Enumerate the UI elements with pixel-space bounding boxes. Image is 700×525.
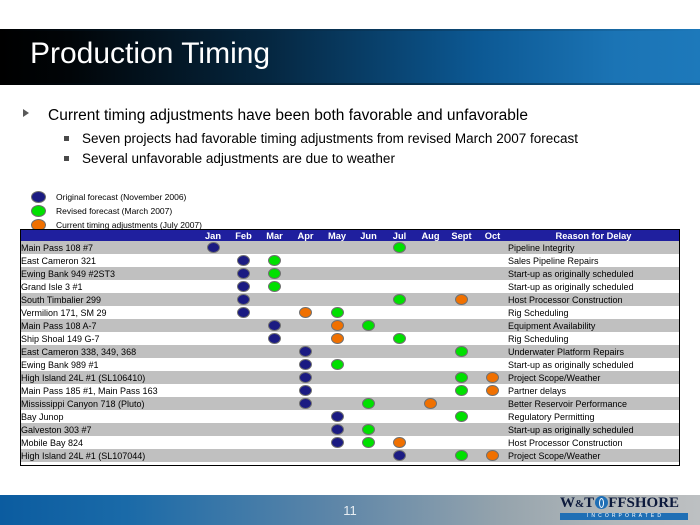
cell-jan <box>198 397 228 410</box>
cell-jan <box>198 423 228 436</box>
logo-w: W <box>560 495 575 511</box>
cell-project-name: East Cameron 338, 349, 368 <box>21 345 198 358</box>
bullet-list: Current timing adjustments have been bot… <box>20 105 680 169</box>
marker-current-icon <box>424 398 437 409</box>
cell-apr <box>290 319 321 332</box>
cell-apr <box>290 449 321 462</box>
cell-feb <box>228 423 259 436</box>
cell-mar <box>259 293 290 306</box>
cell-aug <box>415 267 446 280</box>
column-header-month-8: Sept <box>446 230 477 241</box>
logo-offshore: FFSHORE <box>608 495 679 511</box>
marker-current-icon <box>331 320 344 331</box>
cell-may <box>321 358 353 371</box>
cell-mar <box>259 267 290 280</box>
cell-oct <box>477 280 508 293</box>
marker-revised-icon <box>362 437 375 448</box>
cell-mar <box>259 280 290 293</box>
column-header-month-7: Aug <box>415 230 446 241</box>
table-row: High Island 24L #1 (SL106410)Project Sco… <box>21 371 679 384</box>
marker-original-icon <box>331 437 344 448</box>
cell-oct <box>477 319 508 332</box>
cell-project-name: Mobile Bay 824 <box>21 436 198 449</box>
marker-original-icon <box>299 385 312 396</box>
cell-jun <box>353 241 384 254</box>
cell-feb <box>228 306 259 319</box>
cell-aug <box>415 423 446 436</box>
cell-project-name: Grand Isle 3 #1 <box>21 280 198 293</box>
cell-project-name: South Timbalier 299 <box>21 293 198 306</box>
cell-reason: Start-up as originally scheduled <box>508 423 679 436</box>
cell-apr <box>290 241 321 254</box>
cell-mar <box>259 410 290 423</box>
table-row: Main Pass 108 #7Pipeline Integrity <box>21 241 679 254</box>
cell-apr <box>290 345 321 358</box>
table-row: Mobile Bay 824Host Processor Constructio… <box>21 436 679 449</box>
cell-jul <box>384 319 415 332</box>
cell-jan <box>198 345 228 358</box>
marker-revised-icon <box>362 320 375 331</box>
marker-revised-icon <box>331 359 344 370</box>
column-header-month-2: Mar <box>259 230 290 241</box>
table-row: Mississippi Canyon 718 (Pluto)Better Res… <box>21 397 679 410</box>
table-row: East Cameron 321Sales Pipeline Repairs <box>21 254 679 267</box>
slide-canvas: Production Timing Current timing adjustm… <box>0 0 700 525</box>
marker-revised-icon <box>455 346 468 357</box>
cell-may <box>321 267 353 280</box>
cell-jun <box>353 358 384 371</box>
marker-revised-icon <box>362 398 375 409</box>
table-body: Main Pass 108 #7Pipeline IntegrityEast C… <box>21 241 679 462</box>
marker-revised-icon <box>393 333 406 344</box>
legend-label: Revised forecast (March 2007) <box>56 206 172 216</box>
cell-jun <box>353 436 384 449</box>
cell-may <box>321 332 353 345</box>
cell-sept <box>446 241 477 254</box>
cell-project-name: Ship Shoal 149 G-7 <box>21 332 198 345</box>
cell-reason: Pipeline Integrity <box>508 241 679 254</box>
logo-t: T <box>584 495 594 511</box>
table-row: Ewing Bank 989 #1Start-up as originally … <box>21 358 679 371</box>
legend: Original forecast (November 2006)Revised… <box>26 190 202 232</box>
cell-jan <box>198 293 228 306</box>
marker-original-icon <box>237 307 250 318</box>
cell-aug <box>415 280 446 293</box>
cell-project-name: Vermilion 171, SM 29 <box>21 306 198 319</box>
cell-reason: Rig Scheduling <box>508 332 679 345</box>
cell-feb <box>228 410 259 423</box>
cell-reason: Better Reservoir Performance <box>508 397 679 410</box>
column-header-month-0: Jan <box>198 230 228 241</box>
title-bar: Production Timing <box>0 29 700 85</box>
page-title: Production Timing <box>30 37 270 71</box>
bullet-item-2: Several unfavorable adjustments are due … <box>20 149 680 169</box>
marker-current-icon <box>299 307 312 318</box>
cell-feb <box>228 449 259 462</box>
cell-sept <box>446 345 477 358</box>
cell-oct <box>477 384 508 397</box>
production-timing-table: Jan Feb Mar Apr May Jun Jul Aug Sept Oct… <box>21 230 679 462</box>
cell-oct <box>477 332 508 345</box>
cell-jul <box>384 332 415 345</box>
cell-sept <box>446 306 477 319</box>
cell-feb <box>228 345 259 358</box>
cell-project-name: Main Pass 108 A-7 <box>21 319 198 332</box>
cell-jun <box>353 410 384 423</box>
marker-current-icon <box>331 333 344 344</box>
cell-may <box>321 371 353 384</box>
cell-jul <box>384 384 415 397</box>
column-header-reason: Reason for Delay <box>508 230 679 241</box>
cell-aug <box>415 371 446 384</box>
column-header-month-6: Jul <box>384 230 415 241</box>
marker-original-icon <box>237 294 250 305</box>
cell-oct <box>477 436 508 449</box>
column-header-month-5: Jun <box>353 230 384 241</box>
cell-may <box>321 397 353 410</box>
cell-feb <box>228 267 259 280</box>
marker-revised-icon <box>268 255 281 266</box>
cell-oct <box>477 345 508 358</box>
cell-project-name: Mississippi Canyon 718 (Pluto) <box>21 397 198 410</box>
cell-jun <box>353 306 384 319</box>
cell-sept <box>446 358 477 371</box>
marker-revised-icon <box>455 411 468 422</box>
cell-mar <box>259 345 290 358</box>
cell-reason: Host Processor Construction <box>508 293 679 306</box>
legend-item-revised: Revised forecast (March 2007) <box>26 204 202 217</box>
table-row: East Cameron 338, 349, 368Underwater Pla… <box>21 345 679 358</box>
cell-jan <box>198 449 228 462</box>
cell-sept <box>446 449 477 462</box>
cell-jan <box>198 358 228 371</box>
cell-jun <box>353 332 384 345</box>
cell-project-name: High Island 24L #1 (SL106410) <box>21 371 198 384</box>
cell-jun <box>353 449 384 462</box>
cell-aug <box>415 319 446 332</box>
cell-mar <box>259 371 290 384</box>
cell-apr <box>290 384 321 397</box>
cell-sept <box>446 267 477 280</box>
marker-revised-icon <box>455 385 468 396</box>
cell-apr <box>290 254 321 267</box>
cell-project-name: Main Pass 185 #1, Main Pass 163 <box>21 384 198 397</box>
cell-jan <box>198 371 228 384</box>
cell-feb <box>228 436 259 449</box>
cell-apr <box>290 267 321 280</box>
cell-sept <box>446 397 477 410</box>
cell-sept <box>446 423 477 436</box>
marker-original-icon <box>207 242 220 253</box>
legend-label: Current timing adjustments (July 2007) <box>56 220 202 230</box>
cell-jun <box>353 293 384 306</box>
table-row: Vermilion 171, SM 29Rig Scheduling <box>21 306 679 319</box>
cell-apr <box>290 358 321 371</box>
marker-current-icon <box>393 437 406 448</box>
cell-jun <box>353 423 384 436</box>
column-header-month-3: Apr <box>290 230 321 241</box>
cell-feb <box>228 293 259 306</box>
marker-original-icon <box>268 320 281 331</box>
cell-oct <box>477 358 508 371</box>
cell-aug <box>415 345 446 358</box>
cell-jun <box>353 254 384 267</box>
cell-reason: Equipment Availability <box>508 319 679 332</box>
cell-aug <box>415 358 446 371</box>
marker-revised-icon <box>362 424 375 435</box>
cell-jun <box>353 267 384 280</box>
cell-mar <box>259 332 290 345</box>
bullet-text: Several unfavorable adjustments are due … <box>82 151 395 166</box>
cell-apr <box>290 332 321 345</box>
cell-feb <box>228 397 259 410</box>
logo-subtitle: INCORPORATED <box>560 513 688 520</box>
cell-jul <box>384 358 415 371</box>
cell-apr <box>290 423 321 436</box>
cell-feb <box>228 332 259 345</box>
marker-original-icon <box>237 268 250 279</box>
cell-reason: Project Scope/Weather <box>508 371 679 384</box>
cell-jan <box>198 436 228 449</box>
cell-may <box>321 254 353 267</box>
cell-jul <box>384 423 415 436</box>
cell-jun <box>353 397 384 410</box>
cell-jun <box>353 371 384 384</box>
cell-sept <box>446 436 477 449</box>
cell-oct <box>477 293 508 306</box>
cell-mar <box>259 254 290 267</box>
cell-sept <box>446 410 477 423</box>
cell-may <box>321 241 353 254</box>
legend-dot-revised-icon <box>31 205 46 217</box>
cell-oct <box>477 306 508 319</box>
cell-sept <box>446 332 477 345</box>
cell-project-name: High Island 24L #1 (SL107044) <box>21 449 198 462</box>
cell-feb <box>228 384 259 397</box>
cell-mar <box>259 319 290 332</box>
table-row: Ship Shoal 149 G-7Rig Scheduling <box>21 332 679 345</box>
cell-aug <box>415 332 446 345</box>
cell-jan <box>198 384 228 397</box>
marker-current-icon <box>486 385 499 396</box>
cell-mar <box>259 449 290 462</box>
cell-apr <box>290 410 321 423</box>
cell-apr <box>290 280 321 293</box>
marker-revised-icon <box>393 242 406 253</box>
cell-may <box>321 384 353 397</box>
cell-jul <box>384 241 415 254</box>
column-header-month-1: Feb <box>228 230 259 241</box>
cell-jan <box>198 254 228 267</box>
marker-original-icon <box>299 346 312 357</box>
cell-may <box>321 306 353 319</box>
table-header-row: Jan Feb Mar Apr May Jun Jul Aug Sept Oct… <box>21 230 679 241</box>
cell-project-name: East Cameron 321 <box>21 254 198 267</box>
column-header-month-4: May <box>321 230 353 241</box>
cell-jan <box>198 280 228 293</box>
cell-jul <box>384 397 415 410</box>
table-row: Galveston 303 #7Start-up as originally s… <box>21 423 679 436</box>
table-row: South Timbalier 299Host Processor Constr… <box>21 293 679 306</box>
cell-aug <box>415 254 446 267</box>
cell-sept <box>446 384 477 397</box>
cell-mar <box>259 306 290 319</box>
marker-revised-icon <box>331 307 344 318</box>
cell-may <box>321 423 353 436</box>
cell-jul <box>384 254 415 267</box>
cell-oct <box>477 449 508 462</box>
cell-oct <box>477 397 508 410</box>
cell-jan <box>198 241 228 254</box>
cell-oct <box>477 267 508 280</box>
marker-current-icon <box>486 450 499 461</box>
marker-revised-icon <box>455 372 468 383</box>
marker-revised-icon <box>455 450 468 461</box>
marker-original-icon <box>299 372 312 383</box>
cell-may <box>321 293 353 306</box>
table-row: Bay JunopRegulatory Permitting <box>21 410 679 423</box>
logo-ampersand: & <box>575 498 584 510</box>
cell-jan <box>198 410 228 423</box>
cell-jul <box>384 345 415 358</box>
cell-reason: Start-up as originally scheduled <box>508 267 679 280</box>
cell-jan <box>198 267 228 280</box>
cell-apr <box>290 293 321 306</box>
cell-jul <box>384 306 415 319</box>
legend-item-original: Original forecast (November 2006) <box>26 190 202 203</box>
cell-apr <box>290 371 321 384</box>
cell-feb <box>228 319 259 332</box>
cell-project-name: Ewing Bank 989 #1 <box>21 358 198 371</box>
cell-jul <box>384 449 415 462</box>
table-row: Main Pass 185 #1, Main Pass 163Partner d… <box>21 384 679 397</box>
cell-feb <box>228 371 259 384</box>
cell-feb <box>228 358 259 371</box>
cell-oct <box>477 371 508 384</box>
bullet-item-1: Seven projects had favorable timing adju… <box>20 129 680 149</box>
square-bullet-icon <box>64 156 69 161</box>
bullet-text: Current timing adjustments have been bot… <box>48 107 528 124</box>
cell-reason: Partner delays <box>508 384 679 397</box>
cell-may <box>321 449 353 462</box>
cell-aug <box>415 397 446 410</box>
cell-may <box>321 280 353 293</box>
cell-sept <box>446 254 477 267</box>
marker-original-icon <box>237 281 250 292</box>
cell-may <box>321 436 353 449</box>
cell-oct <box>477 254 508 267</box>
cell-mar <box>259 397 290 410</box>
marker-original-icon <box>237 255 250 266</box>
cell-oct <box>477 410 508 423</box>
cell-aug <box>415 436 446 449</box>
title-bar-top-edge <box>0 29 700 31</box>
table-row: Ewing Bank 949 #2ST3Start-up as original… <box>21 267 679 280</box>
arrow-bullet-icon <box>23 109 29 117</box>
marker-original-icon <box>268 333 281 344</box>
cell-project-name: Ewing Bank 949 #2ST3 <box>21 267 198 280</box>
legend-label: Original forecast (November 2006) <box>56 192 186 202</box>
cell-may <box>321 410 353 423</box>
cell-aug <box>415 449 446 462</box>
column-header-project <box>21 230 198 241</box>
bullet-item-0: Current timing adjustments have been bot… <box>20 105 680 126</box>
bullet-text: Seven projects had favorable timing adju… <box>82 131 578 146</box>
table-row: High Island 24L #1 (SL107044)Project Sco… <box>21 449 679 462</box>
cell-jun <box>353 384 384 397</box>
cell-jul <box>384 371 415 384</box>
marker-original-icon <box>299 359 312 370</box>
cell-jul <box>384 280 415 293</box>
cell-sept <box>446 293 477 306</box>
cell-reason: Start-up as originally scheduled <box>508 358 679 371</box>
cell-project-name: Main Pass 108 #7 <box>21 241 198 254</box>
cell-mar <box>259 241 290 254</box>
cell-jun <box>353 280 384 293</box>
legend-dot-original-icon <box>31 191 46 203</box>
cell-project-name: Bay Junop <box>21 410 198 423</box>
cell-jul <box>384 410 415 423</box>
cell-reason: Start-up as originally scheduled <box>508 280 679 293</box>
cell-reason: Host Processor Construction <box>508 436 679 449</box>
marker-current-icon <box>455 294 468 305</box>
globe-icon <box>595 496 608 509</box>
cell-feb <box>228 254 259 267</box>
column-header-month-9: Oct <box>477 230 508 241</box>
marker-original-icon <box>299 398 312 409</box>
cell-oct <box>477 241 508 254</box>
cell-mar <box>259 423 290 436</box>
cell-aug <box>415 306 446 319</box>
square-bullet-icon <box>64 136 69 141</box>
cell-apr <box>290 397 321 410</box>
cell-reason: Sales Pipeline Repairs <box>508 254 679 267</box>
cell-project-name: Galveston 303 #7 <box>21 423 198 436</box>
cell-mar <box>259 436 290 449</box>
table-row: Grand Isle 3 #1Start-up as originally sc… <box>21 280 679 293</box>
cell-sept <box>446 319 477 332</box>
marker-original-icon <box>331 424 344 435</box>
cell-aug <box>415 293 446 306</box>
cell-feb <box>228 241 259 254</box>
cell-mar <box>259 358 290 371</box>
cell-may <box>321 345 353 358</box>
marker-revised-icon <box>393 294 406 305</box>
marker-current-icon <box>486 372 499 383</box>
cell-jun <box>353 319 384 332</box>
cell-jul <box>384 436 415 449</box>
cell-apr <box>290 306 321 319</box>
cell-jan <box>198 332 228 345</box>
cell-sept <box>446 371 477 384</box>
cell-aug <box>415 410 446 423</box>
cell-jan <box>198 319 228 332</box>
marker-revised-icon <box>268 268 281 279</box>
cell-feb <box>228 280 259 293</box>
cell-jul <box>384 293 415 306</box>
cell-aug <box>415 241 446 254</box>
company-logo: W&TFFSHORE INCORPORATED <box>560 496 688 520</box>
cell-sept <box>446 280 477 293</box>
cell-jul <box>384 267 415 280</box>
cell-aug <box>415 384 446 397</box>
cell-reason: Rig Scheduling <box>508 306 679 319</box>
cell-oct <box>477 423 508 436</box>
cell-reason: Project Scope/Weather <box>508 449 679 462</box>
marker-original-icon <box>331 411 344 422</box>
cell-reason: Regulatory Permitting <box>508 410 679 423</box>
cell-may <box>321 319 353 332</box>
